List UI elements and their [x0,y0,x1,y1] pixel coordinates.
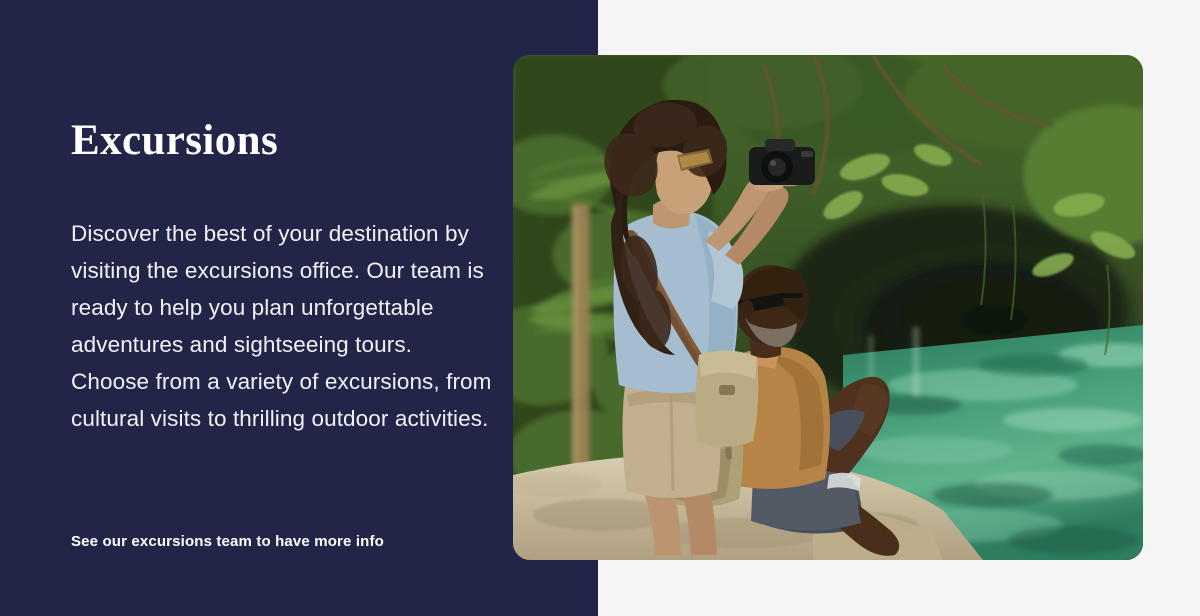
excursions-team-link[interactable]: See our excursions team to have more inf… [71,533,384,550]
body-paragraph: Discover the best of your destination by… [71,215,496,437]
photo-vignette [513,55,1143,560]
photo-illustration [513,55,1143,560]
excursion-photo [513,55,1143,560]
page-title: Excursions [71,118,511,163]
copy-block: Excursions Discover the best of your des… [71,118,511,437]
